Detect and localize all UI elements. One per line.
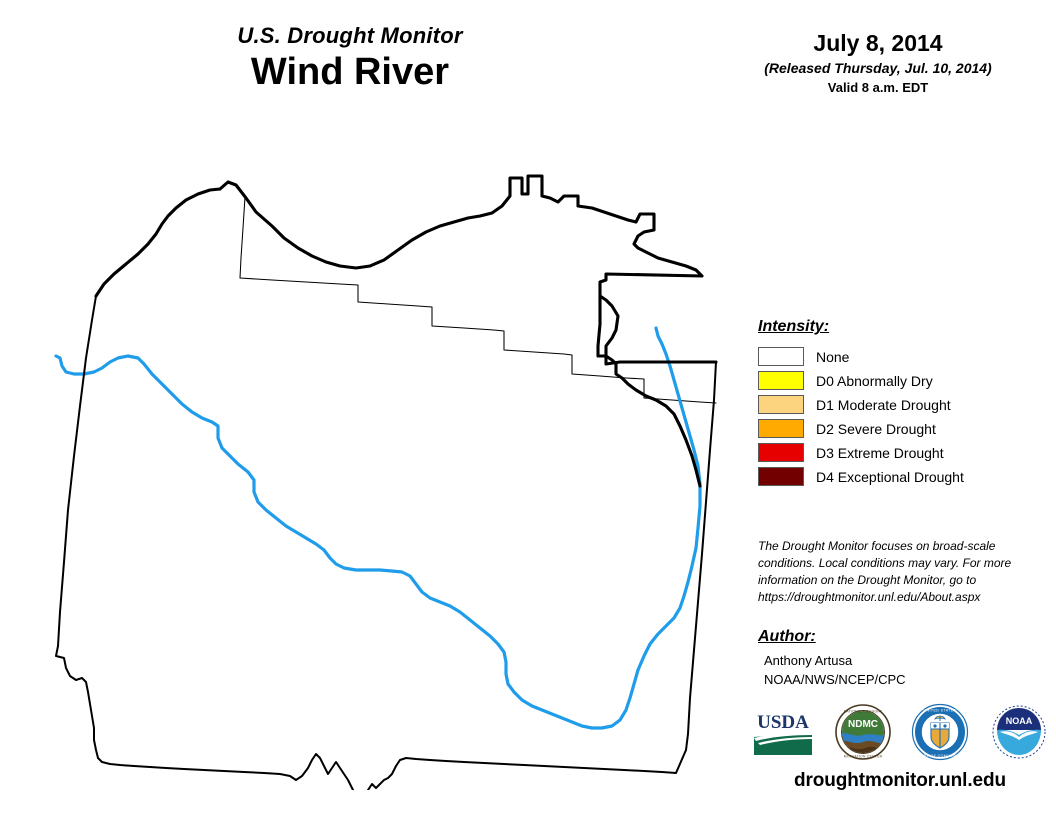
legend-heading: Intensity: [758,318,1038,336]
legend-item-d4[interactable]: D4 Exceptional Drought [758,465,1038,488]
legend-swatch-d3 [758,443,804,462]
legend-item-d3[interactable]: D3 Extreme Drought [758,441,1038,464]
legend-label-d2: D2 Severe Drought [816,421,936,437]
noaa-logo: NOAA [990,704,1048,765]
author-block: Author: Anthony Artusa NOAA/NWS/NCEP/CPC [758,628,1038,690]
legend-swatch-none [758,347,804,366]
usdc-seal-logo: UNITED STATES DEPT OF COMMERCE [911,703,969,766]
disclaimer-text: The Drought Monitor focuses on broad-sca… [758,538,1030,606]
author-heading: Author: [758,628,1038,646]
logo-row: USDA NDMC NATIONAL DROUGHT MITIGATION CE… [752,703,1048,765]
legend-swatch-d2 [758,419,804,438]
legend-label-d3: D3 Extreme Drought [816,445,944,461]
svg-text:DEPT OF COMMERCE: DEPT OF COMMERCE [918,754,962,758]
legend-panel: Intensity: None D0 Abnormally Dry D1 Mod… [758,318,1038,489]
svg-text:MITIGATION CENTER: MITIGATION CENTER [843,754,882,758]
legend-swatch-d4 [758,467,804,486]
legend-item-d0[interactable]: D0 Abnormally Dry [758,369,1038,392]
reservation-fill [54,176,702,790]
legend-label-d4: D4 Exceptional Drought [816,469,964,485]
release-date: (Released Thursday, Jul. 10, 2014) [700,60,1056,76]
legend-swatch-d1 [758,395,804,414]
legend-swatch-d0 [758,371,804,390]
noaa-logo-text: NOAA [1006,716,1033,726]
ndmc-logo: NDMC NATIONAL DROUGHT MITIGATION CENTER [835,704,891,765]
legend-label-d1: D1 Moderate Drought [816,397,951,413]
header-title-block: U.S. Drought Monitor Wind River [0,24,700,94]
svg-text:NATIONAL DROUGHT: NATIONAL DROUGHT [843,709,882,713]
legend-item-d1[interactable]: D1 Moderate Drought [758,393,1038,416]
header-date-block: July 8, 2014 (Released Thursday, Jul. 10… [700,30,1056,95]
legend-item-none[interactable]: None [758,345,1038,368]
usda-logo-text: USDA [757,712,809,733]
page-title: U.S. Drought Monitor [0,24,700,48]
valid-time: Valid 8 a.m. EDT [700,80,1056,95]
legend-label-d0: D0 Abnormally Dry [816,373,933,389]
legend-item-d2[interactable]: D2 Severe Drought [758,417,1038,440]
author-affiliation: NOAA/NWS/NCEP/CPC [758,671,1038,690]
map-date: July 8, 2014 [700,30,1056,56]
legend-label-none: None [816,349,849,365]
region-title: Wind River [0,51,700,94]
south-boundary [98,750,686,790]
site-url[interactable]: droughtmonitor.unl.edu [752,770,1048,792]
author-name: Anthony Artusa [758,652,1038,671]
drought-map[interactable] [40,150,740,790]
usda-logo: USDA [752,707,814,762]
svg-text:UNITED STATES: UNITED STATES [924,708,957,712]
ndmc-logo-text: NDMC [848,719,878,730]
